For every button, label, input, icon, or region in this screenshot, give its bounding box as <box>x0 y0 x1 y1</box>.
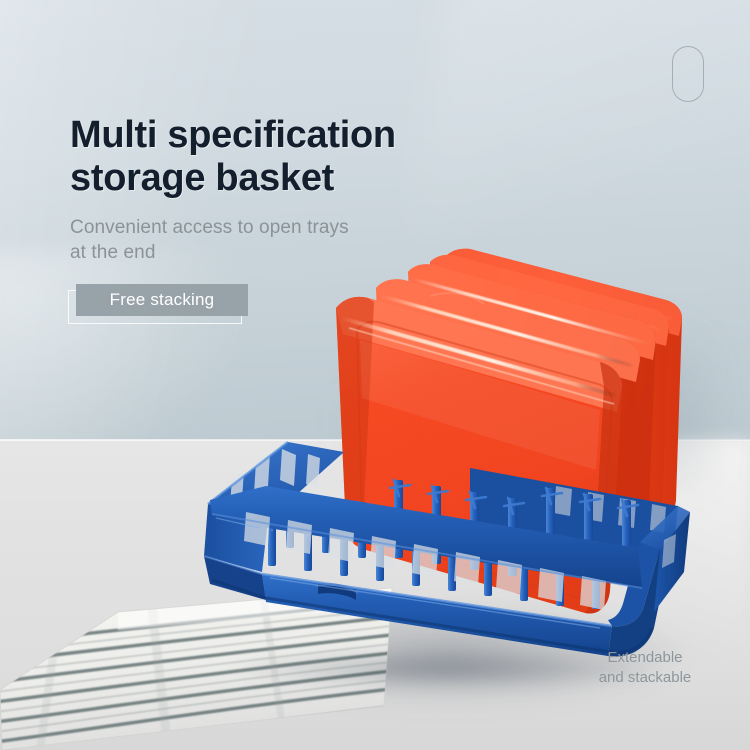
page-title: Multi specification storage basket <box>70 114 490 199</box>
feature-note-line-2: and stackable <box>565 668 725 688</box>
product-photo <box>0 0 750 750</box>
blue-storage-rack <box>0 0 750 750</box>
headline-line-2: storage basket <box>70 157 490 200</box>
subtitle-line-1: Convenient access to open trays <box>70 216 410 241</box>
product-banner: Multi specification storage basket Conve… <box>0 0 750 750</box>
feature-note-line-1: Extendable <box>565 648 725 668</box>
subtitle: Convenient access to open trays at the e… <box>70 216 410 265</box>
badge-label: Free stacking <box>76 284 248 316</box>
subtitle-line-2: at the end <box>70 241 410 266</box>
feature-badge: Free stacking <box>68 284 268 330</box>
headline-line-1: Multi specification <box>70 114 490 157</box>
feature-note: Extendable and stackable <box>565 648 725 688</box>
